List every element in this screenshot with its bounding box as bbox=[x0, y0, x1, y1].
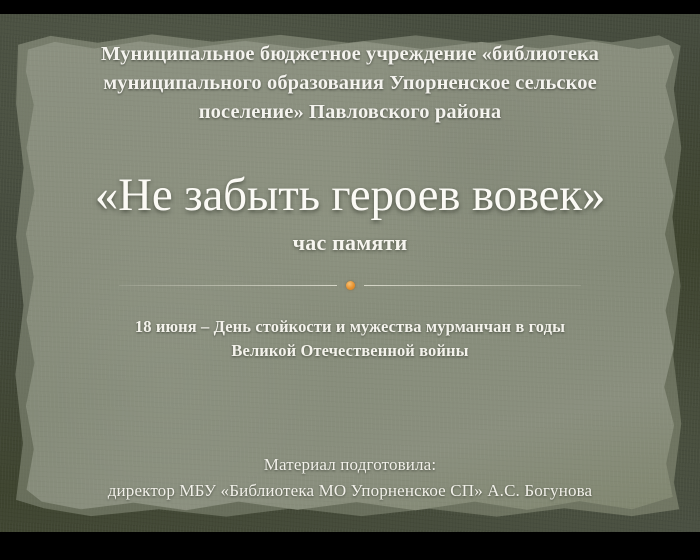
ornamental-divider bbox=[119, 279, 581, 291]
slide-main-title: «Не забыть героев вовек» bbox=[10, 171, 690, 221]
event-description-line-2: Великой Отечественной войны bbox=[65, 339, 635, 363]
slide-subtitle: час памяти bbox=[10, 230, 690, 256]
slide-content: Муниципальное бюджетное учреждение «библ… bbox=[0, 0, 700, 560]
event-description: 18 июня – День стойкости и мужества мурм… bbox=[65, 315, 635, 363]
letterbox-band-bottom bbox=[0, 532, 700, 560]
event-description-line-1: 18 июня – День стойкости и мужества мурм… bbox=[65, 315, 635, 339]
divider-dot-icon bbox=[346, 281, 355, 290]
divider-rule-left bbox=[119, 285, 337, 286]
presentation-slide: Муниципальное бюджетное учреждение «библ… bbox=[0, 0, 700, 560]
letterbox-band-top bbox=[0, 0, 700, 14]
credits-block: Материал подготовила: директор МБУ «Библ… bbox=[0, 452, 700, 504]
credits-label: Материал подготовила: bbox=[0, 452, 700, 478]
organization-title: Муниципальное бюджетное учреждение «библ… bbox=[50, 40, 650, 127]
credits-author: директор МБУ «Библиотека МО Упорненское … bbox=[0, 478, 700, 504]
divider-rule-right bbox=[364, 285, 582, 286]
